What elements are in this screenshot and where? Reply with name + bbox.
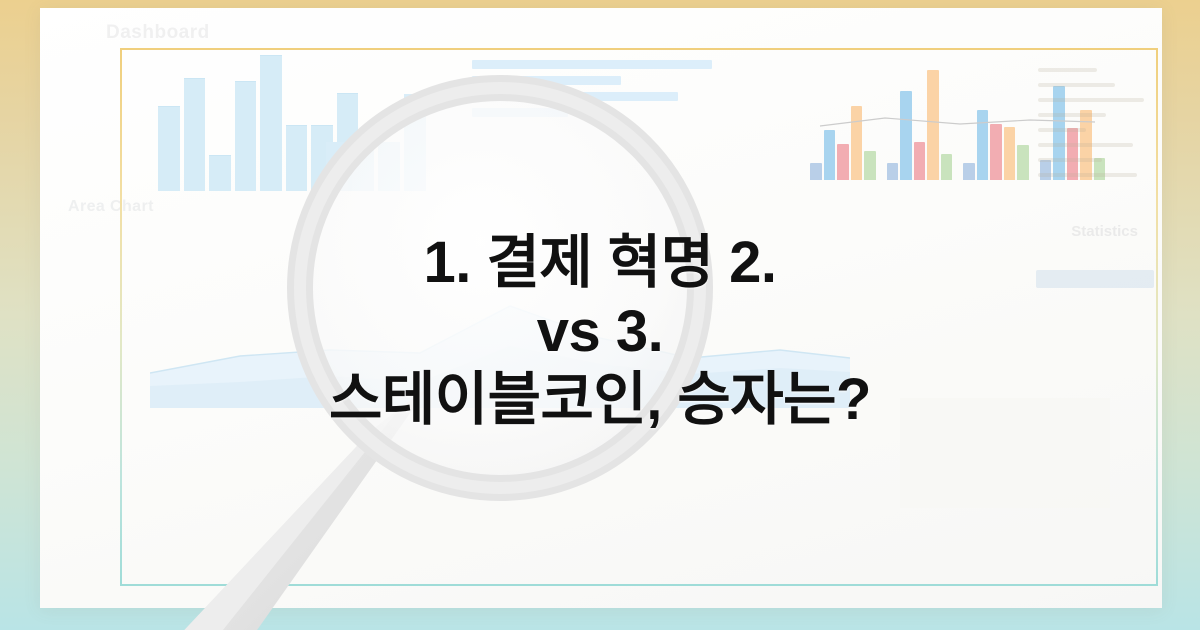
bar-group xyxy=(810,60,876,180)
bar xyxy=(887,163,899,180)
bar xyxy=(963,163,975,180)
bar xyxy=(914,142,926,180)
bar xyxy=(209,155,231,191)
bar xyxy=(824,130,836,180)
side-panel-lines xyxy=(1038,68,1148,188)
bar xyxy=(837,144,849,180)
mini-line xyxy=(472,76,621,85)
bar xyxy=(378,142,400,191)
dashboard-card: Dashboard Area Chart xyxy=(40,8,1162,608)
mini-line xyxy=(472,60,712,69)
bar xyxy=(352,142,374,191)
panel-line xyxy=(1038,158,1102,162)
panel-line xyxy=(1038,68,1097,72)
area-chart xyxy=(150,258,850,408)
panel-line xyxy=(1038,98,1144,102)
side-panel-pill xyxy=(1036,270,1154,288)
panel-line xyxy=(1038,113,1106,117)
bar xyxy=(326,142,348,191)
thumbnail-canvas: Dashboard Area Chart xyxy=(0,0,1200,630)
bottom-faint-panel xyxy=(900,398,1110,508)
bar xyxy=(260,55,282,191)
bar xyxy=(810,163,822,180)
bar-group xyxy=(887,60,953,180)
mini-line xyxy=(472,92,678,101)
panel-line xyxy=(1038,143,1133,147)
bar-group xyxy=(963,60,1029,180)
bar xyxy=(941,154,953,180)
bar xyxy=(158,106,180,191)
bar xyxy=(977,110,989,180)
bar xyxy=(1017,145,1029,180)
bar xyxy=(927,70,939,180)
bar xyxy=(235,81,257,191)
mini-line xyxy=(472,108,568,117)
panel-line xyxy=(1038,83,1115,87)
bar xyxy=(864,151,876,180)
mini-line-block xyxy=(472,60,712,130)
side-panel-title: Statistics xyxy=(1071,223,1138,240)
bar xyxy=(900,91,912,180)
bar-chart-left-group-2 xyxy=(326,56,426,191)
bar xyxy=(990,124,1002,180)
card-header-label: Dashboard xyxy=(106,22,210,44)
area-chart-title: Area Chart xyxy=(68,198,154,216)
bar xyxy=(851,106,863,180)
bar xyxy=(184,78,206,191)
panel-line xyxy=(1038,128,1086,132)
bar xyxy=(286,125,308,191)
bar xyxy=(404,94,426,191)
bar xyxy=(1004,127,1016,180)
panel-line xyxy=(1038,173,1137,177)
